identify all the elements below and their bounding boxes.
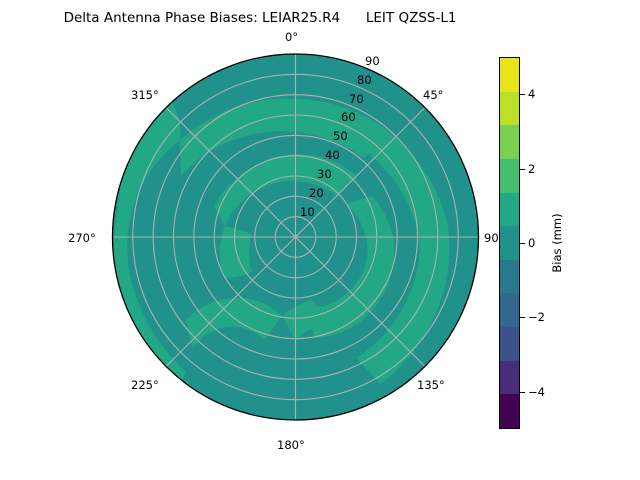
colorbar: −4 −2 0 2 4 Bias (mm) — [499, 57, 619, 432]
colorbar-band-0 — [500, 394, 519, 428]
colorbar-band-1 — [500, 361, 519, 395]
angular-tick-0: 0° — [285, 30, 298, 44]
radial-tick-90: 90 — [365, 54, 380, 68]
colorbar-tick-mark — [520, 392, 525, 393]
colorbar-gradient-strip — [499, 57, 520, 429]
colorbar-band-4 — [500, 260, 519, 294]
colorbar-band-7 — [500, 159, 519, 193]
colorbar-axis-label: Bias (mm) — [550, 213, 564, 272]
radial-tick-20: 20 — [309, 186, 324, 200]
colorbar-tick-mark — [520, 169, 525, 170]
angular-tick-90: 90 — [484, 231, 499, 245]
colorbar-tick-label-neg4: −4 — [528, 385, 545, 399]
radial-tick-50: 50 — [333, 129, 348, 143]
colorbar-band-6 — [500, 193, 519, 227]
colorbar-band-8 — [500, 125, 519, 159]
colorbar-tick-label-0: 0 — [528, 236, 535, 250]
radial-tick-80: 80 — [357, 73, 372, 87]
colorbar-tick-label-2: 2 — [528, 162, 535, 176]
colorbar-tick-label-neg2: −2 — [528, 310, 545, 324]
angular-tick-270: 270° — [68, 231, 96, 245]
angular-tick-135: 135° — [417, 378, 445, 392]
radial-tick-30: 30 — [317, 167, 332, 181]
angular-tick-225: 225° — [131, 378, 159, 392]
colorbar-tick-label-4: 4 — [528, 87, 535, 101]
angular-tick-45: 45° — [423, 88, 443, 102]
radial-tick-40: 40 — [325, 148, 340, 162]
radial-tick-70: 70 — [349, 92, 364, 106]
colorbar-band-3 — [500, 293, 519, 327]
colorbar-tick-mark — [520, 94, 525, 95]
colorbar-band-10 — [500, 58, 519, 92]
angular-gridlines — [113, 54, 479, 420]
radial-tick-10: 10 — [300, 205, 315, 219]
figure-canvas: Delta Antenna Phase Biases: LEIAR25.R4 L… — [0, 0, 640, 480]
radial-tick-60: 60 — [341, 110, 356, 124]
colorbar-band-2 — [500, 327, 519, 361]
angular-tick-315: 315° — [131, 88, 159, 102]
colorbar-band-5 — [500, 226, 519, 260]
colorbar-tick-mark — [520, 317, 525, 318]
colorbar-tick-mark — [520, 243, 525, 244]
colorbar-band-9 — [500, 92, 519, 126]
angular-tick-180: 180° — [277, 438, 305, 452]
